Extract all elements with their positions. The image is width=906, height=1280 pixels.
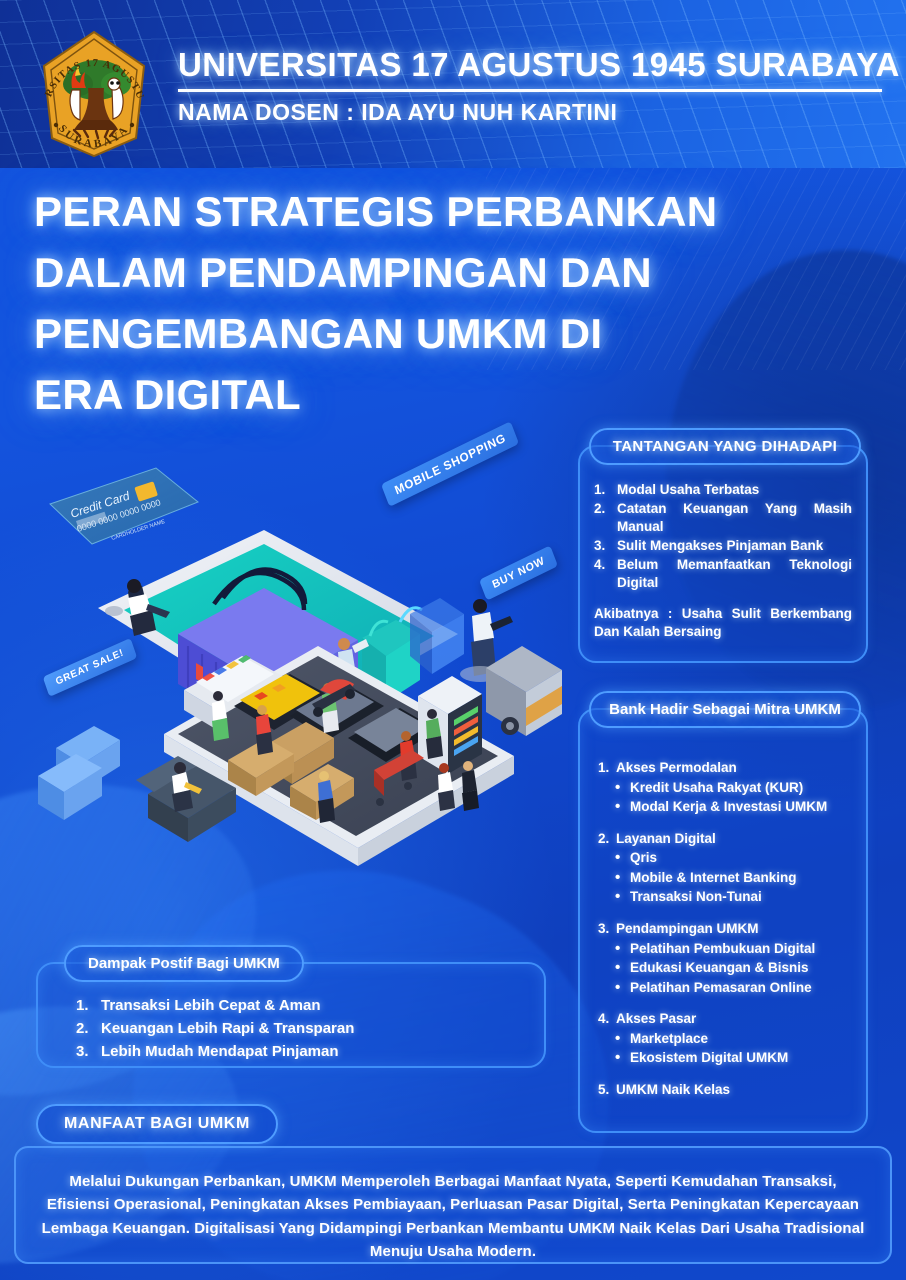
- tantangan-conclusion: Akibatnya : Usaha Sulit Berkembang Dan K…: [594, 605, 852, 641]
- bank-group-items: Qris Mobile & Internet Banking Transaksi…: [598, 848, 852, 907]
- bank-group-items: Pelatihan Pembukuan Digital Edukasi Keua…: [598, 939, 852, 998]
- bank-group: 4. Akses Pasar Marketplace Ekosistem Dig…: [598, 1009, 852, 1068]
- bank-group-number: 3.: [598, 919, 609, 939]
- panel-manfaat-heading: MANFAAT BAGI UMKM: [36, 1104, 278, 1144]
- tantangan-item-text: Modal Usaha Terbatas: [617, 482, 759, 497]
- list-item: Marketplace: [598, 1029, 852, 1049]
- dampak-item-text: Lebih Mudah Mendapat Pinjaman: [101, 1043, 339, 1060]
- panel-dampak-heading: Dampak Postif Bagi UMKM: [64, 945, 304, 982]
- bank-group: 3. Pendampingan UMKM Pelatihan Pembukuan…: [598, 919, 852, 997]
- list-item: 1.Transaksi Lebih Cepat & Aman: [76, 995, 544, 1017]
- tantangan-item-text: Sulit Mengakses Pinjaman Bank: [617, 538, 823, 553]
- dampak-list: 1.Transaksi Lebih Cepat & Aman 2.Keuanga…: [76, 995, 544, 1063]
- dampak-item-text: Keuangan Lebih Rapi & Transparan: [101, 1020, 354, 1037]
- list-item: Pelatihan Pemasaran Online: [598, 978, 852, 998]
- bank-group: 2. Layanan Digital Qris Mobile & Interne…: [598, 829, 852, 907]
- poster-header: UNIVERSITAS 17 AGUSTUS 1945 SURABAYA UNI…: [0, 0, 906, 168]
- tantangan-list: 1.Modal Usaha Terbatas 2.Catatan Keuanga…: [594, 481, 852, 592]
- bank-group-title: 1. Akses Permodalan: [598, 758, 852, 778]
- bank-group-items: Kredit Usaha Rakyat (KUR) Modal Kerja & …: [598, 778, 852, 817]
- tantangan-item-text: Belum Memanfaatkan Teknologi Digital: [617, 557, 852, 590]
- bank-group-label: Akses Permodalan: [616, 760, 737, 775]
- title-line-2: DALAM PENDAMPINGAN DAN: [34, 243, 874, 304]
- panel-tantangan-body: 1.Modal Usaha Terbatas 2.Catatan Keuanga…: [580, 447, 866, 651]
- header-divider: [178, 89, 882, 92]
- poster-canvas: UNIVERSITAS 17 AGUSTUS 1945 SURABAYA UNI…: [0, 0, 906, 1280]
- bank-group-title: 5. UMKM Naik Kelas: [598, 1080, 852, 1100]
- list-item: Edukasi Keuangan & Bisnis: [598, 958, 852, 978]
- bank-group-number: 4.: [598, 1009, 609, 1029]
- panel-tantangan-heading: TANTANGAN YANG DIHADAPI: [589, 428, 861, 465]
- panel-bank-hadir-sebagai-mitra-umkm: Bank Hadir Sebagai Mitra UMKM 1. Akses P…: [578, 708, 868, 1133]
- bank-group-title: 2. Layanan Digital: [598, 829, 852, 849]
- panel-bank-heading: Bank Hadir Sebagai Mitra UMKM: [589, 691, 861, 728]
- panel-tantangan-yang-dihadapi: TANTANGAN YANG DIHADAPI 1.Modal Usaha Te…: [578, 445, 868, 663]
- lecturer-name: NAMA DOSEN : IDA AYU NUH KARTINI: [178, 101, 890, 124]
- bank-group-number: 1.: [598, 758, 609, 778]
- title-line-1: PERAN STRATEGIS PERBANKAN: [34, 182, 874, 243]
- manfaat-paragraph: Melalui Dukungan Perbankan, UMKM Mempero…: [16, 1148, 890, 1263]
- list-item: Ekosistem Digital UMKM: [598, 1048, 852, 1068]
- bank-group-label: UMKM Naik Kelas: [616, 1082, 730, 1097]
- delivery-truck: [486, 646, 562, 736]
- title-line-3: PENGEMBANGAN UMKM DI: [34, 304, 874, 365]
- panel-manfaat-bagi-umkm: Melalui Dukungan Perbankan, UMKM Mempero…: [14, 1146, 892, 1264]
- list-item: 2.Keuangan Lebih Rapi & Transparan: [76, 1018, 544, 1040]
- bank-group-title: 4. Akses Pasar: [598, 1009, 852, 1029]
- bank-group-label: Pendampingan UMKM: [616, 921, 759, 936]
- list-item: 4.Belum Memanfaatkan Teknologi Digital: [594, 556, 852, 592]
- panel-dampak-positif-bagi-umkm: Dampak Postif Bagi UMKM 1.Transaksi Lebi…: [36, 962, 546, 1068]
- list-item: Qris: [598, 848, 852, 868]
- list-item: 3.Lebih Mudah Mendapat Pinjaman: [76, 1041, 544, 1063]
- list-item: 2.Catatan Keuangan Yang Masih Manual: [594, 500, 852, 536]
- dampak-item-text: Transaksi Lebih Cepat & Aman: [101, 997, 321, 1014]
- bank-group-title: 3. Pendampingan UMKM: [598, 919, 852, 939]
- credit-card-graphic: Credit Card 0000 0000 0000 0000 CARDHOLD…: [50, 468, 198, 544]
- list-item: Kredit Usaha Rakyat (KUR): [598, 778, 852, 798]
- bank-group-label: Akses Pasar: [616, 1011, 696, 1026]
- bank-group-number: 2.: [598, 829, 609, 849]
- bank-group: 5. UMKM Naik Kelas: [598, 1080, 852, 1100]
- poster-title: PERAN STRATEGIS PERBANKAN DALAM PENDAMPI…: [34, 182, 874, 426]
- tantangan-item-text: Catatan Keuangan Yang Masih Manual: [617, 501, 852, 534]
- bank-group-number: 5.: [598, 1080, 609, 1100]
- list-item: Transaksi Non-Tunai: [598, 887, 852, 907]
- header-text-block: UNIVERSITAS 17 AGUSTUS 1945 SURABAYA NAM…: [178, 48, 890, 124]
- parcel-stack: [38, 726, 120, 820]
- title-line-4: ERA DIGITAL: [34, 365, 874, 426]
- bank-group-label: Layanan Digital: [616, 831, 716, 846]
- bank-group-items: Marketplace Ekosistem Digital UMKM: [598, 1029, 852, 1068]
- list-item: Modal Kerja & Investasi UMKM: [598, 797, 852, 817]
- ecommerce-isometric-illustration: Credit Card 0000 0000 0000 0000 CARDHOLD…: [28, 438, 578, 908]
- list-item: 1.Modal Usaha Terbatas: [594, 481, 852, 499]
- list-item: Mobile & Internet Banking: [598, 868, 852, 888]
- university-name: UNIVERSITAS 17 AGUSTUS 1945 SURABAYA: [178, 48, 890, 81]
- bank-group: 1. Akses Permodalan Kredit Usaha Rakyat …: [598, 758, 852, 817]
- university-logo: UNIVERSITAS 17 AGUSTUS 1945 SURABAYA: [32, 28, 156, 160]
- list-item: Pelatihan Pembukuan Digital: [598, 939, 852, 959]
- panel-bank-body: 1. Akses Permodalan Kredit Usaha Rakyat …: [580, 710, 866, 1109]
- list-item: 3.Sulit Mengakses Pinjaman Bank: [594, 537, 852, 555]
